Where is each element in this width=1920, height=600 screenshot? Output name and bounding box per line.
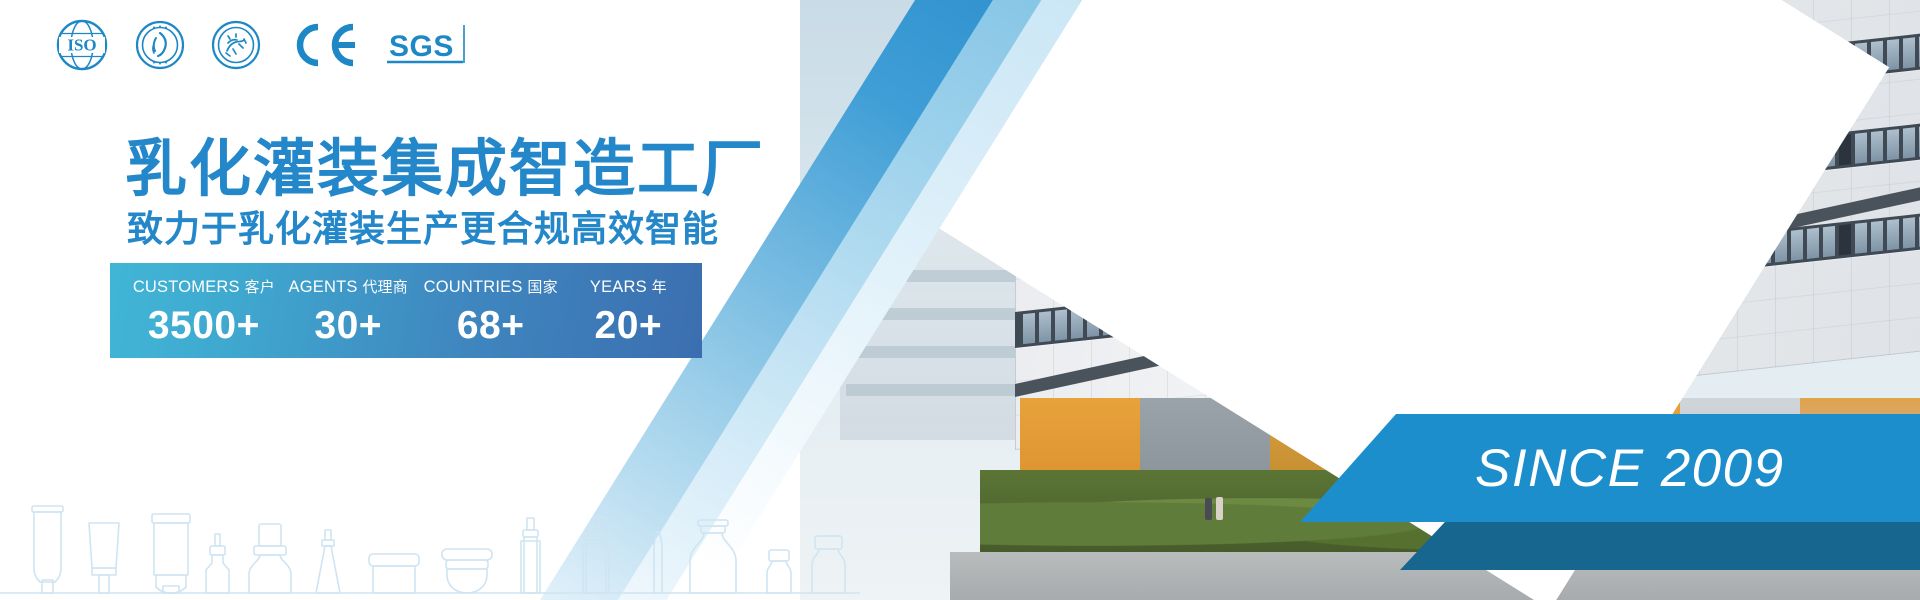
window-pane bbox=[1823, 226, 1835, 257]
window-pane bbox=[1055, 309, 1067, 340]
stats-row: CUSTOMERS 客户 3500+ AGENTS 代理商 30+ COUNTR… bbox=[110, 276, 702, 345]
window-pane bbox=[1887, 129, 1899, 160]
stat-agents: AGENTS 代理商 30+ bbox=[284, 276, 413, 345]
window-pane bbox=[1839, 224, 1851, 255]
promotional-banner: SINCE 2009 ISO bbox=[0, 0, 1920, 600]
cosmetic-tube-flat bbox=[152, 514, 190, 593]
sgs-logo: SGS bbox=[385, 21, 471, 69]
stat-customers: CUSTOMERS 客户 3500+ bbox=[124, 276, 284, 345]
window-pane bbox=[1023, 313, 1035, 344]
stats-panel: CUSTOMERS 客户 3500+ AGENTS 代理商 30+ COUNTR… bbox=[110, 263, 702, 358]
small-vial bbox=[767, 550, 791, 593]
stat-value: 3500+ bbox=[148, 306, 260, 345]
page-subtitle: 致力于乳化灌装生产更合规高效智能 bbox=[127, 200, 719, 252]
stat-label: COUNTRIES 国家 bbox=[424, 276, 558, 297]
pump-bottle bbox=[583, 517, 609, 593]
cosmetic-tube-tapered bbox=[89, 523, 119, 593]
infusion-bottle bbox=[690, 520, 736, 593]
pedestrian bbox=[1216, 497, 1223, 520]
round-bottle-cap bbox=[249, 524, 291, 593]
since-badge-label: SINCE 2009 bbox=[1475, 438, 1785, 499]
squeeze-tube-cone bbox=[316, 530, 340, 593]
window-pane bbox=[1855, 132, 1867, 163]
svg-text:SGS: SGS bbox=[389, 30, 454, 63]
page-title: 乳化灌装集成智造工厂 bbox=[125, 118, 765, 208]
stat-label: YEARS 年 bbox=[590, 276, 667, 297]
stat-years: YEARS 年 20+ bbox=[569, 276, 688, 345]
cream-jar-round bbox=[442, 549, 492, 593]
cosmetic-tube-large bbox=[32, 506, 63, 593]
stat-value: 30+ bbox=[314, 306, 382, 345]
window-pane bbox=[1903, 217, 1915, 248]
dropper-bottle bbox=[206, 534, 229, 593]
window-pane bbox=[1807, 228, 1819, 259]
pedestrian bbox=[1205, 498, 1212, 520]
product-silhouettes bbox=[0, 460, 860, 600]
window-pane bbox=[1791, 229, 1803, 260]
nozzle-tube bbox=[521, 518, 540, 593]
svg-text:ISO: ISO bbox=[67, 36, 96, 55]
stat-label: CUSTOMERS 客户 bbox=[133, 276, 275, 297]
cream-jar-wide bbox=[369, 554, 419, 593]
stat-label: AGENTS 代理商 bbox=[289, 276, 408, 297]
window-pane bbox=[1871, 131, 1883, 162]
stat-value: 68+ bbox=[457, 306, 525, 345]
ampoule bbox=[654, 532, 662, 593]
gmp-logo bbox=[135, 20, 185, 70]
window-pane bbox=[1855, 222, 1867, 253]
window-pane bbox=[1039, 311, 1051, 342]
window-pane bbox=[1903, 127, 1915, 158]
since-badge: SINCE 2009 bbox=[1300, 414, 1920, 522]
window-pane bbox=[1887, 219, 1899, 250]
window-pane bbox=[1871, 221, 1883, 252]
medicine-bottle bbox=[812, 536, 845, 593]
quality-mark-logo bbox=[211, 20, 261, 70]
window-pane bbox=[1903, 37, 1915, 68]
stat-countries: COUNTRIES 国家 68+ bbox=[413, 276, 569, 345]
window-pane bbox=[1887, 39, 1899, 70]
ce-logo bbox=[287, 21, 359, 69]
stat-value: 20+ bbox=[595, 306, 663, 345]
certification-logos: ISO bbox=[55, 18, 471, 72]
iso-logo: ISO bbox=[55, 18, 109, 72]
